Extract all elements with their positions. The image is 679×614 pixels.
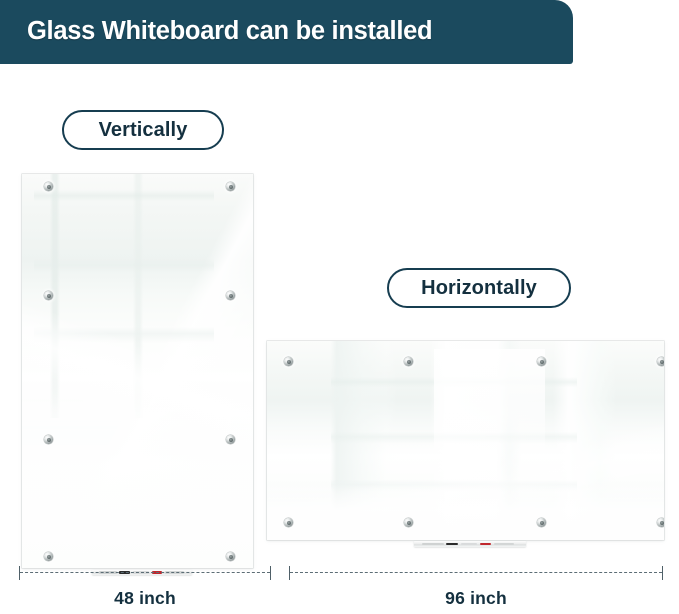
dimension-cap-right [662, 566, 663, 580]
glass-reflection-floor-horizontal [267, 480, 664, 540]
glass-reflection-ceiling-vertical [34, 190, 214, 419]
glass-whiteboard-horizontal [267, 341, 664, 540]
marker-body [494, 543, 514, 546]
mounting-screw [284, 518, 293, 527]
dimension-line-horizontal [284, 566, 668, 580]
glass-whiteboard-vertical [22, 174, 253, 568]
dimension-line-vertical [14, 566, 276, 580]
dimension-cap-left [19, 566, 20, 580]
pill-vertical-text: Vertically [99, 119, 188, 142]
mounting-screw [226, 435, 235, 444]
dimension-label-vertical: 48 inch [14, 588, 276, 609]
glass-reflection-floor-vertical [22, 379, 253, 568]
marker-cap-black [446, 543, 458, 546]
mounting-screw [404, 357, 413, 366]
mounting-screw [44, 291, 53, 300]
mounting-screw [226, 182, 235, 191]
mounting-screw [657, 518, 664, 527]
page-title: Glass Whiteboard can be installed [27, 17, 432, 46]
mounting-screw [657, 357, 664, 366]
label-pill-vertically: Vertically [62, 110, 224, 150]
glass-reflection-glare-vertical [22, 174, 253, 568]
glass-reflection-window-horizontal [434, 349, 545, 472]
mounting-screw [226, 552, 235, 561]
marker-cap-red [480, 543, 491, 546]
mounting-screw [226, 291, 235, 300]
infographic-canvas: Glass Whiteboard can be installed Vertic… [0, 0, 679, 614]
mounting-screw [284, 357, 293, 366]
mounting-screw [404, 518, 413, 527]
marker-body [461, 543, 477, 546]
header-banner: Glass Whiteboard can be installed [0, 0, 573, 64]
glass-reflection-mullions-horizontal [267, 341, 664, 540]
dimension-dash [290, 572, 662, 573]
glass-reflection-base-horizontal [267, 341, 664, 540]
marker-tray-inner [414, 541, 526, 547]
dimension-cap-left [289, 566, 290, 580]
mounting-screw [537, 518, 546, 527]
glass-reflection-mullions-vertical [22, 174, 253, 418]
marker-body [422, 543, 444, 546]
mounting-screw [44, 435, 53, 444]
mounting-screw [44, 552, 53, 561]
marker-tray-horizontal [414, 541, 526, 547]
glass-reflection-ceiling-horizontal [331, 353, 577, 524]
mounting-screw [44, 182, 53, 191]
dimension-dash [20, 572, 270, 573]
dimension-label-horizontal: 96 inch [284, 588, 668, 609]
mounting-screw [537, 357, 546, 366]
glass-reflection-base-vertical [22, 174, 253, 568]
dimension-cap-right [270, 566, 271, 580]
label-pill-horizontally: Horizontally [387, 268, 571, 308]
pill-horizontal-text: Horizontally [421, 277, 537, 300]
glass-reflection-glare-horizontal [267, 341, 664, 540]
